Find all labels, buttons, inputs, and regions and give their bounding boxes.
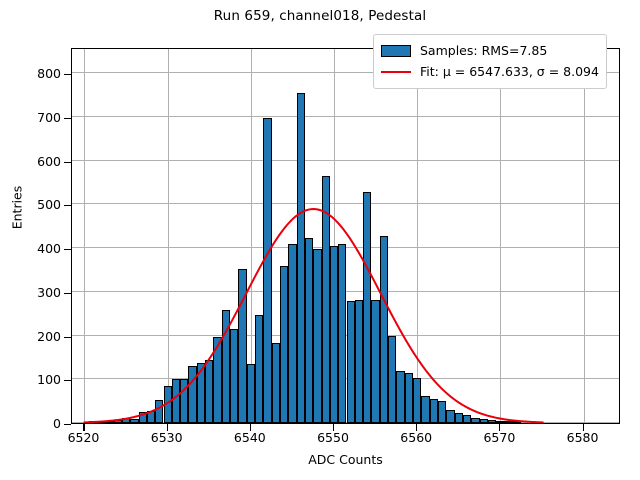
legend-label-samples: Samples: RMS=7.85: [420, 43, 547, 58]
y-tick-mark: [64, 293, 71, 294]
x-tick-mark: [333, 424, 334, 431]
line-swatch-icon: [381, 71, 411, 73]
x-tick-mark: [83, 424, 84, 431]
gaussian-fit-curve: [72, 49, 619, 423]
figure-canvas: Run 659, channel018, Pedestal 0100200300…: [0, 0, 640, 480]
y-tick-mark: [64, 424, 71, 425]
x-tick-label: 6530: [127, 430, 207, 445]
x-tick-label: 6550: [293, 430, 373, 445]
x-axis-label: ADC Counts: [71, 452, 620, 467]
y-tick-mark: [64, 118, 71, 119]
x-tick-mark: [583, 424, 584, 431]
legend-item-fit: Fit: μ = 6547.633, σ = 8.094: [381, 61, 599, 82]
chart-legend: Samples: RMS=7.85 Fit: μ = 6547.633, σ =…: [373, 34, 607, 89]
x-tick-label: 6580: [543, 430, 623, 445]
bar-swatch-icon: [381, 45, 411, 57]
legend-label-fit: Fit: μ = 6547.633, σ = 8.094: [420, 64, 599, 79]
x-tick-label: 6520: [43, 430, 123, 445]
plot-area: [71, 48, 620, 424]
y-tick-mark: [64, 205, 71, 206]
y-tick-mark: [64, 162, 71, 163]
x-tick-mark: [250, 424, 251, 431]
x-tick-label: 6540: [210, 430, 290, 445]
y-tick-label: 200: [15, 329, 61, 344]
chart-title: Run 659, channel018, Pedestal: [0, 8, 640, 24]
x-tick-mark: [499, 424, 500, 431]
y-tick-mark: [64, 337, 71, 338]
y-tick-label: 100: [15, 372, 61, 387]
y-tick-label: 0: [15, 416, 61, 431]
x-tick-label: 6560: [376, 430, 456, 445]
y-tick-mark: [64, 249, 71, 250]
x-tick-mark: [167, 424, 168, 431]
y-tick-label: 800: [15, 66, 61, 81]
y-tick-mark: [64, 380, 71, 381]
y-tick-mark: [64, 74, 71, 75]
x-tick-mark: [416, 424, 417, 431]
legend-item-samples: Samples: RMS=7.85: [381, 40, 599, 61]
x-tick-label: 6570: [459, 430, 539, 445]
y-axis-label: Entries: [10, 108, 25, 308]
